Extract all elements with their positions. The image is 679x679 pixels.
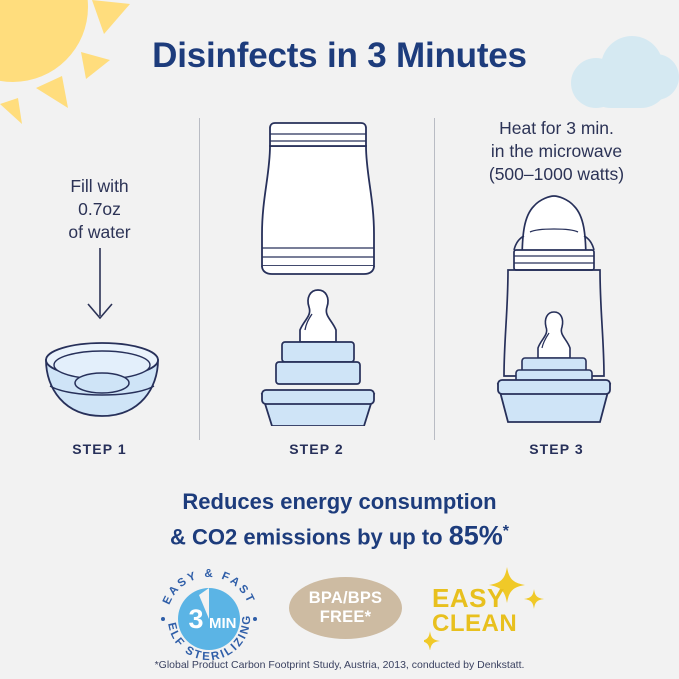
assembled-bottle-in-base-icon <box>484 190 624 428</box>
timer-3min-badge-icon: EASY & FAST SELF STERILIZING 3 MIN <box>155 565 263 673</box>
step-3-caption-line-1: Heat for 3 min. <box>434 117 679 140</box>
bowl-of-water-icon <box>40 338 164 422</box>
footnote: *Global Product Carbon Footprint Study, … <box>0 659 679 671</box>
easy-clean-line-1: EASY <box>432 586 517 611</box>
step-3-label: STEP 3 <box>434 441 679 457</box>
svg-text:3: 3 <box>188 604 203 634</box>
easy-clean-line-2: CLEAN <box>432 611 517 636</box>
svg-text:MIN: MIN <box>209 615 237 632</box>
eco-claim: Reduces energy consumption & CO2 emissio… <box>0 487 679 552</box>
bpa-badge-line-2: FREE* <box>320 608 371 627</box>
step-3-caption-line-2: in the microwave <box>434 140 679 163</box>
step-1-caption: Fill with 0.7oz of water <box>0 175 199 244</box>
eco-claim-footnote-marker: * <box>503 523 509 540</box>
easy-clean-text: EASY CLEAN <box>432 586 517 636</box>
step-1-column: Fill with 0.7oz of water <box>0 112 199 244</box>
step-3-caption-line-3: (500–1000 watts) <box>434 163 679 186</box>
eco-claim-value: 85% <box>449 520 503 550</box>
bottle-teat-cap-icon <box>248 114 388 426</box>
infographic-page: Disinfects in 3 Minutes Fill with 0.7oz … <box>0 0 679 679</box>
bpa-badge-line-1: BPA/BPS <box>309 589 383 608</box>
eco-claim-line-1: Reduces energy consumption <box>0 487 679 517</box>
eco-claim-line-2: & CO2 emissions by up to 85%* <box>0 517 679 552</box>
eco-claim-prefix: & CO2 emissions by up to <box>170 524 449 549</box>
step-3-column: Heat for 3 min. in the microwave (500–10… <box>434 112 679 186</box>
step-1-caption-line-3: of water <box>0 221 199 244</box>
step-1-caption-line-2: 0.7oz <box>0 198 199 221</box>
step-2-label: STEP 2 <box>199 441 434 457</box>
page-title: Disinfects in 3 Minutes <box>0 36 679 76</box>
down-arrow-icon <box>72 248 128 323</box>
easy-clean-badge: EASY CLEAN <box>424 565 554 650</box>
badge-row: EASY & FAST SELF STERILIZING 3 MIN BPA/B… <box>0 565 679 650</box>
step-3-caption: Heat for 3 min. in the microwave (500–10… <box>434 117 679 186</box>
column-divider-1 <box>199 118 200 440</box>
step-1-label: STEP 1 <box>0 441 199 457</box>
step-1-caption-line-1: Fill with <box>0 175 199 198</box>
bpa-bps-free-badge-icon: BPA/BPS FREE* <box>289 577 402 639</box>
